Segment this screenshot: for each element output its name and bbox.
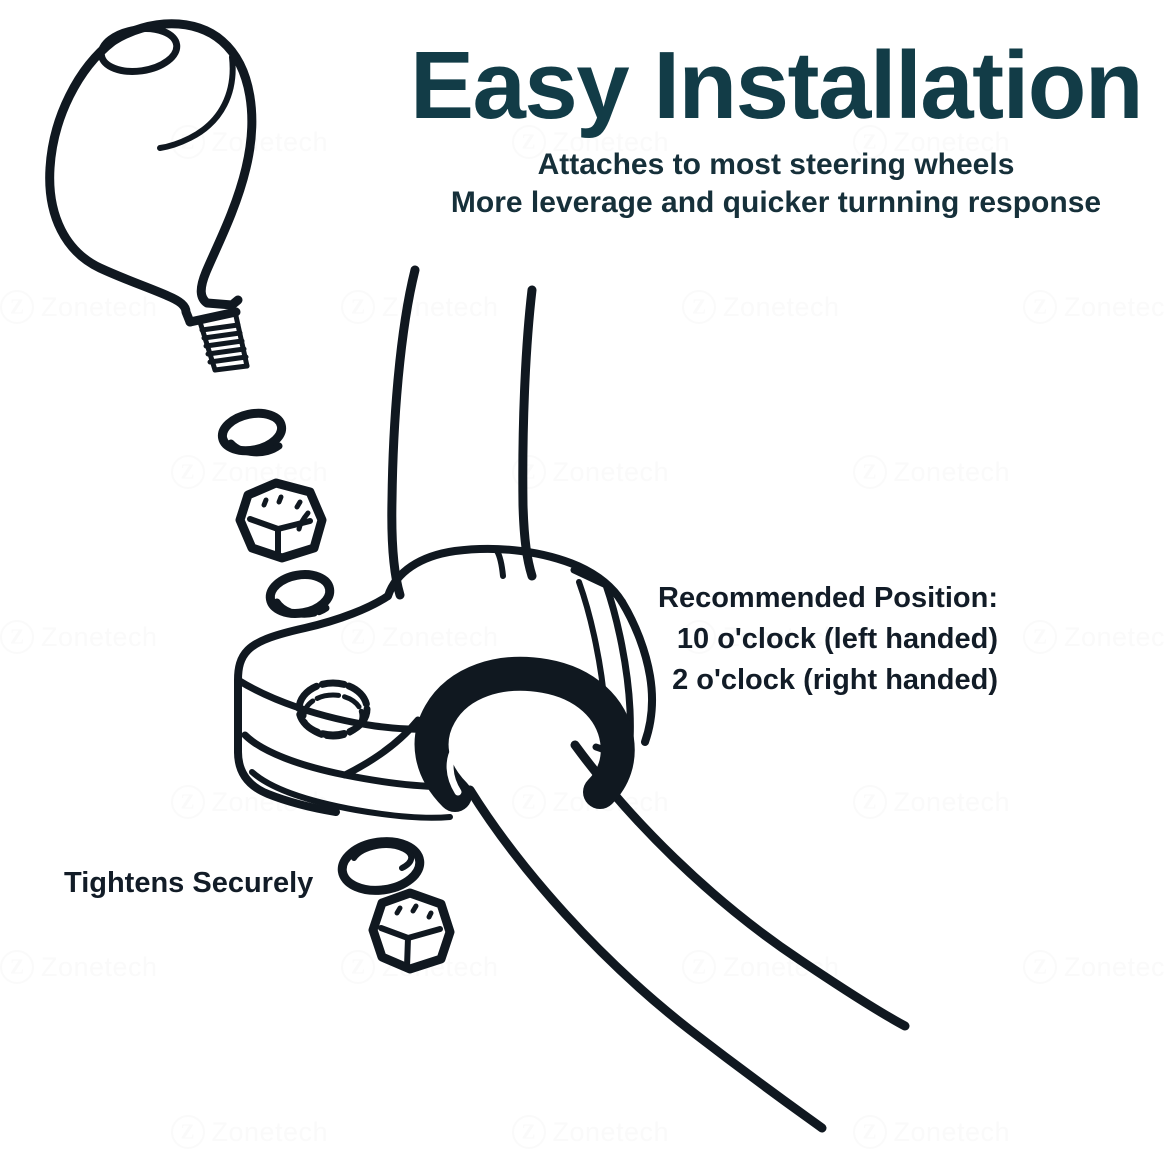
zonetech-logo-icon — [512, 1115, 546, 1149]
watermark-text: Zonetech — [1064, 622, 1164, 653]
recommended-position-callout: Recommended Position: 10 o'clock (left h… — [646, 578, 998, 702]
knob-dimple — [98, 24, 179, 76]
watermark-text: Zonetech — [723, 292, 840, 323]
steering-wheel-rim-lower — [470, 745, 905, 1128]
upper-washer — [219, 408, 285, 456]
zonetech-logo-icon — [512, 455, 546, 489]
zonetech-logo-icon — [0, 620, 34, 654]
watermark-text: Zonetech — [1064, 952, 1164, 983]
clamp-bracket — [238, 549, 652, 818]
clamp-ring — [432, 674, 618, 795]
watermark-text: Zonetech — [382, 622, 499, 653]
watermark-zonetech: Zonetech — [171, 785, 329, 819]
zonetech-logo-icon — [1023, 290, 1057, 324]
watermark-zonetech: Zonetech — [171, 1115, 329, 1149]
watermark-text: Zonetech — [553, 457, 670, 488]
watermark-zonetech: Zonetech — [1023, 290, 1164, 324]
watermark-text: Zonetech — [41, 952, 158, 983]
upper-hex-nut — [240, 483, 322, 558]
watermark-text: Zonetech — [41, 292, 158, 323]
threaded-bolt — [200, 316, 247, 370]
zonetech-logo-icon — [682, 290, 716, 324]
zonetech-logo-icon — [1023, 950, 1057, 984]
watermark-zonetech: Zonetech — [1023, 620, 1164, 654]
heading-block: Easy Installation Attaches to most steer… — [406, 38, 1146, 223]
watermark-text: Zonetech — [553, 787, 670, 818]
lower-hex-nut — [373, 893, 450, 969]
watermark-text: Zonetech — [41, 622, 158, 653]
zonetech-logo-icon — [171, 455, 205, 489]
zonetech-logo-icon — [0, 950, 34, 984]
zonetech-logo-icon — [171, 1115, 205, 1149]
mid-washer — [267, 570, 333, 618]
watermark-zonetech: Zonetech — [0, 620, 158, 654]
subtitle-line-2: More leverage and quicker turnning respo… — [406, 184, 1146, 222]
clamp-bolt-hole — [299, 683, 367, 737]
watermark-text: Zonetech — [212, 787, 329, 818]
position-left-handed: 10 o'clock (left handed) — [646, 619, 998, 660]
zonetech-logo-icon — [512, 785, 546, 819]
watermark-zonetech: Zonetech — [171, 125, 329, 159]
watermark-zonetech: Zonetech — [1023, 950, 1164, 984]
zonetech-logo-icon — [0, 290, 34, 324]
zonetech-logo-icon — [853, 455, 887, 489]
watermark-text: Zonetech — [894, 457, 1011, 488]
watermark-text: Zonetech — [553, 1117, 670, 1148]
watermark-zonetech: Zonetech — [853, 785, 1011, 819]
zonetech-logo-icon — [341, 620, 375, 654]
tightens-securely-label: Tightens Securely — [64, 866, 313, 901]
zonetech-logo-icon — [171, 785, 205, 819]
watermark-zonetech: Zonetech — [853, 455, 1011, 489]
subtitle-line-1: Attaches to most steering wheels — [406, 146, 1146, 184]
watermark-text: Zonetech — [212, 1117, 329, 1148]
zonetech-logo-icon — [341, 950, 375, 984]
spinner-knob — [50, 24, 252, 370]
watermark-text: Zonetech — [212, 127, 329, 158]
watermark-text: Zonetech — [723, 952, 840, 983]
watermark-text: Zonetech — [894, 1117, 1011, 1148]
watermark-zonetech: Zonetech — [512, 785, 670, 819]
watermark-zonetech: Zonetech — [682, 290, 840, 324]
watermark-zonetech: Zonetech — [171, 455, 329, 489]
watermark-zonetech: Zonetech — [341, 290, 499, 324]
watermark-zonetech: Zonetech — [0, 290, 158, 324]
watermark-text: Zonetech — [894, 787, 1011, 818]
position-right-handed: 2 o'clock (right handed) — [646, 660, 998, 701]
watermark-zonetech: Zonetech — [512, 455, 670, 489]
watermark-zonetech: Zonetech — [341, 620, 499, 654]
watermark-zonetech: Zonetech — [853, 1115, 1011, 1149]
zonetech-logo-icon — [853, 1115, 887, 1149]
clamp-tab — [574, 570, 630, 758]
watermark-zonetech: Zonetech — [0, 950, 158, 984]
watermark-text: Zonetech — [1064, 292, 1164, 323]
watermark-text: Zonetech — [382, 952, 499, 983]
lower-washer — [339, 837, 423, 895]
watermark-zonetech: Zonetech — [682, 950, 840, 984]
watermark-zonetech: Zonetech — [341, 950, 499, 984]
product-infographic: ZonetechZonetechZonetechZonetechZonetech… — [0, 0, 1164, 1160]
zonetech-logo-icon — [171, 125, 205, 159]
watermark-text: Zonetech — [212, 457, 329, 488]
zonetech-logo-icon — [341, 290, 375, 324]
position-heading: Recommended Position: — [646, 578, 998, 619]
steering-wheel-rim — [392, 270, 532, 595]
zonetech-logo-icon — [682, 950, 716, 984]
watermark-text: Zonetech — [382, 292, 499, 323]
page-title: Easy Installation — [406, 38, 1146, 134]
zonetech-logo-icon — [1023, 620, 1057, 654]
zonetech-logo-icon — [853, 785, 887, 819]
watermark-zonetech: Zonetech — [512, 1115, 670, 1149]
